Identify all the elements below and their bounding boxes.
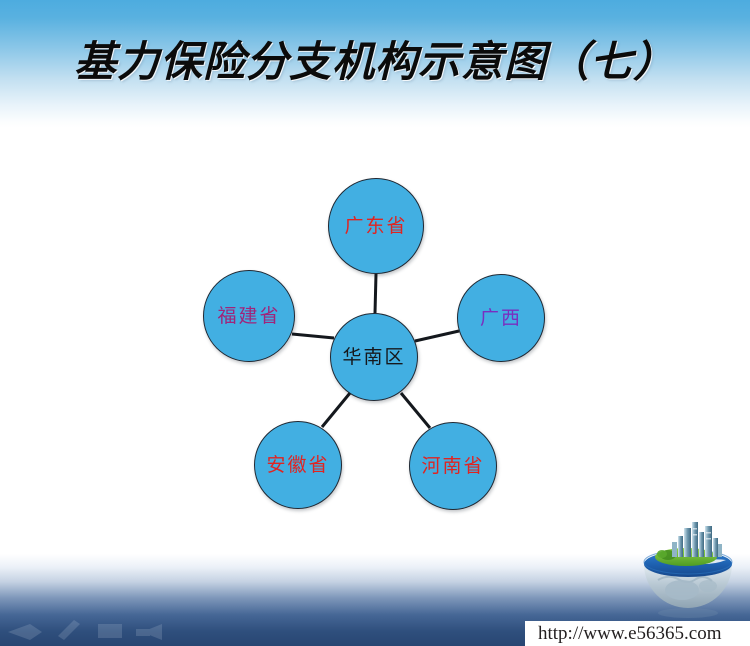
edge-center-henan bbox=[401, 393, 430, 428]
diagram-connectors bbox=[292, 274, 459, 428]
earth-globe-city-logo bbox=[634, 518, 742, 624]
slide-canvas: 基力保险分支机构示意图（七） 广东省 福建省 广西 华南区 安徽省 河南省 bbox=[0, 0, 750, 646]
watermark-url-plate: http://www.e56365.com bbox=[525, 621, 750, 646]
edge-center-anhui bbox=[322, 393, 350, 427]
edge-center-guangdong bbox=[375, 274, 376, 313]
watermark-url-text: http://www.e56365.com bbox=[538, 623, 721, 645]
edge-center-guangxi bbox=[415, 331, 459, 341]
edge-center-fujian bbox=[292, 334, 334, 338]
page-title: 基力保险分支机构示意图（七） bbox=[0, 28, 750, 89]
